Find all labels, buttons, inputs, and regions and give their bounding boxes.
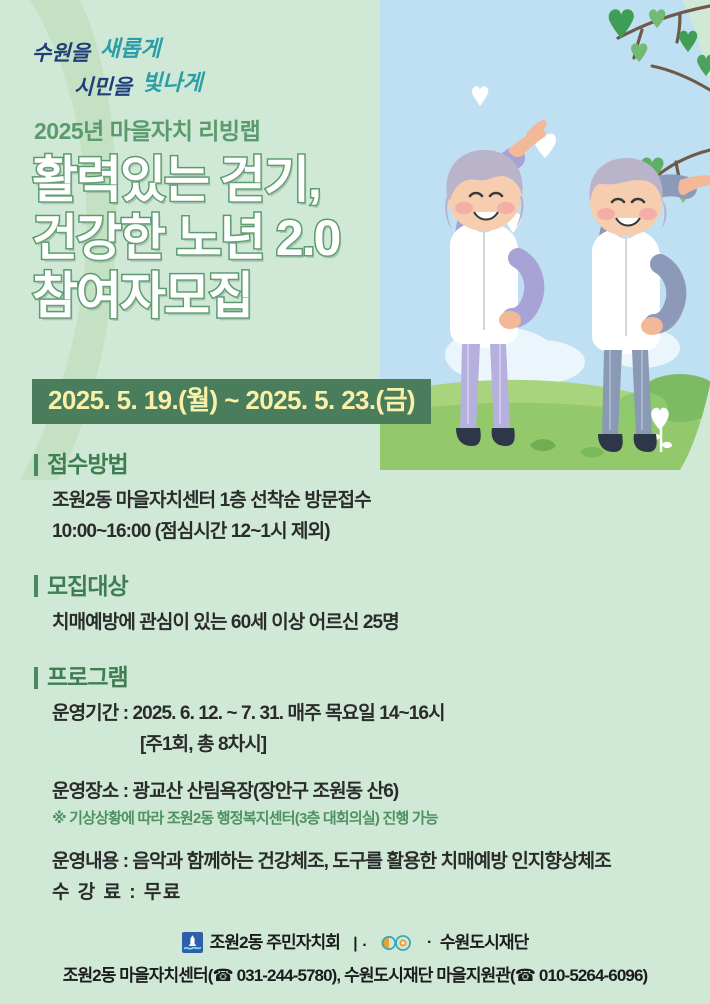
- program-period-line: 운영기간 : 2025. 6. 12. ~ 7. 31. 매주 목요일 14~1…: [52, 699, 710, 730]
- section-bar-icon: [34, 454, 38, 476]
- organizer-sudo-label: 수원도시재단: [440, 934, 528, 951]
- slogan-line2-light: 빛나게: [142, 70, 206, 95]
- footer-contact-line: 조원2동 마을자치센터(☎ 031-244-5780), 수원도시재단 마을지원…: [0, 966, 710, 986]
- program-content-line: 운영내용 : 음악과 함께하는 건강체조, 도구를 활용한 치매예방 인지향상체…: [52, 847, 710, 878]
- logo-divider-tail: ·: [426, 934, 433, 952]
- section-title: 모집대상: [47, 574, 128, 599]
- headline-title-line-1: 활력있는 걷기,: [32, 152, 500, 208]
- section-body: 조원2동 마을자치센터 1층 선착순 방문접수 10:00~16:00 (점심시…: [52, 486, 710, 548]
- logo-divider: ㅣ·: [347, 931, 368, 955]
- spacer: [52, 831, 710, 847]
- suwon-brand-slogan: 수원을 새롭게 시민을 빛나게: [30, 30, 230, 110]
- spacer: [0, 552, 710, 574]
- section-heading: 모집대상: [34, 574, 710, 599]
- body-line: 10:00~16:00 (점심시간 12~1시 제외): [52, 517, 710, 548]
- slogan-line2-dark: 시민을: [74, 75, 134, 99]
- section-title: 접수방법: [47, 452, 128, 477]
- section-bar-icon: [34, 667, 38, 689]
- section-target-audience: 모집대상 치매예방에 관심이 있는 60세 이상 어르신 25명: [0, 574, 710, 639]
- jumin-jachihoe-tower-icon: [182, 932, 203, 953]
- headline-kicker: 2025년 마을자치 리빙랩: [34, 118, 500, 146]
- recruitment-period-banner: 2025. 5. 19.(월) ~ 2025. 5. 23.(금): [32, 379, 431, 424]
- section-heading: 접수방법: [34, 452, 710, 477]
- section-program: 프로그램 운영기간 : 2025. 6. 12. ~ 7. 31. 매주 목요일…: [0, 665, 710, 909]
- section-body: 운영기간 : 2025. 6. 12. ~ 7. 31. 매주 목요일 14~1…: [52, 699, 710, 908]
- slogan-line1-light: 새롭게: [100, 36, 164, 61]
- spacer: [52, 761, 710, 777]
- program-venue-line: 운영장소 : 광교산 산림욕장(장안구 조원동 산6): [52, 777, 710, 808]
- body-line: 치매예방에 관심이 있는 60세 이상 어르신 25명: [52, 608, 710, 639]
- section-application-method: 접수방법 조원2동 마을자치센터 1층 선착순 방문접수 10:00~16:00…: [0, 452, 710, 548]
- program-fee-line: 수 강 료 : 무료: [52, 878, 710, 909]
- organizer-logo-row: 조원2동 주민자치회 ㅣ· · 수원도시재단: [0, 931, 710, 955]
- spacer: [0, 643, 710, 665]
- senior-person-right: [589, 158, 710, 452]
- headline-title-line-3: 참여자모집: [32, 268, 500, 324]
- section-bar-icon: [34, 575, 38, 597]
- body-line: 조원2동 마을자치센터 1층 선착순 방문접수: [52, 486, 710, 517]
- organizer-jumin-label: 조원2동 주민자치회: [210, 934, 340, 951]
- poster-body: 접수방법 조원2동 마을자치센터 1층 선착순 방문접수 10:00~16:00…: [0, 452, 710, 913]
- suwon-urban-foundation-icon: [375, 933, 419, 953]
- section-heading: 프로그램: [34, 665, 710, 690]
- headline-block: 2025년 마을자치 리빙랩 활력있는 걷기, 건강한 노년 2.0 참여자모집: [30, 118, 500, 326]
- section-title: 프로그램: [47, 665, 128, 690]
- program-sessions-line: [주1회, 총 8차시]: [140, 730, 710, 761]
- poster-footer: 조원2동 주민자치회 ㅣ· · 수원도시재단 조원2동 마을자치센터(☎ 031…: [0, 931, 710, 986]
- program-weather-note: ※ 기상상황에 따라 조원2동 행정복지센터(3층 대회의실) 진행 가능: [52, 808, 710, 831]
- headline-title-line-2: 건강한 노년 2.0: [32, 210, 500, 266]
- section-body: 치매예방에 관심이 있는 60세 이상 어르신 25명: [52, 608, 710, 639]
- slogan-line1-dark: 수원을: [32, 41, 92, 65]
- poster-root: 수원을 새롭게 시민을 빛나게 2025년 마을자치 리빙랩 활력있는 걷기, …: [0, 0, 710, 1004]
